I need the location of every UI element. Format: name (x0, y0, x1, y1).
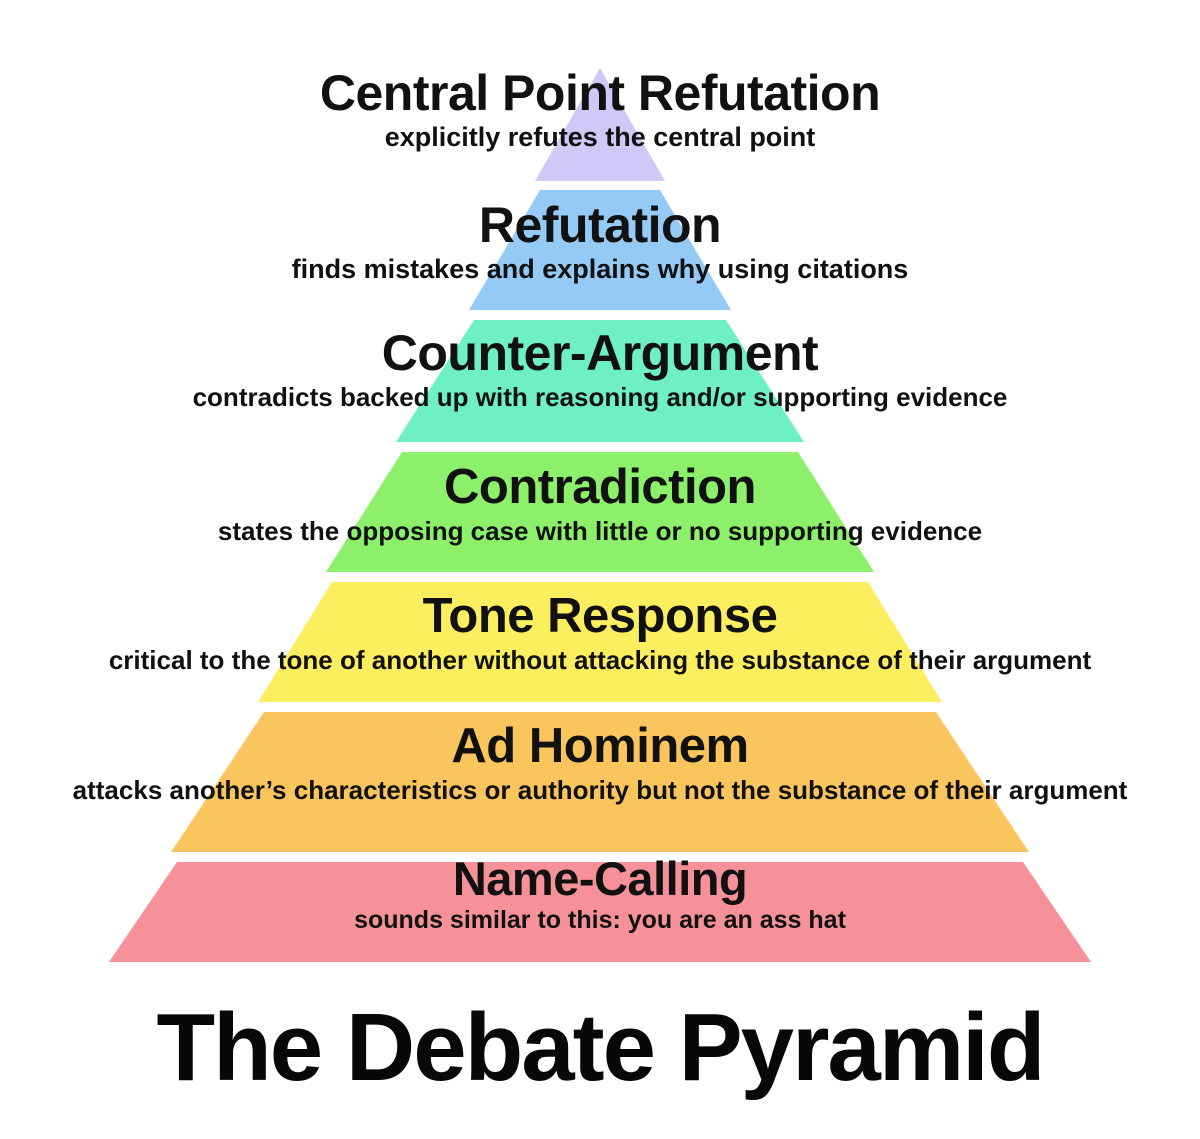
level-description: contradicts backed up with reasoning and… (0, 384, 1200, 410)
debate-pyramid-figure: Central Point Refutation explicitly refu… (0, 0, 1200, 1139)
pyramid-level-tone-response: Tone Response critical to the tone of an… (0, 592, 1200, 673)
level-description: states the opposing case with little or … (0, 518, 1200, 544)
level-title: Name-Calling (0, 855, 1200, 902)
pyramid-level-ad-hominem: Ad Hominem attacks another’s characteris… (0, 722, 1200, 803)
figure-title: The Debate Pyramid (0, 1000, 1200, 1096)
level-description: sounds similar to this: you are an ass h… (0, 908, 1200, 933)
pyramid-graphic (0, 0, 1200, 1139)
level-description: critical to the tone of another without … (0, 647, 1200, 673)
pyramid-level-central-point-refutation: Central Point Refutation explicitly refu… (0, 68, 1200, 151)
level-description: finds mistakes and explains why using ci… (0, 256, 1200, 283)
pyramid-level-name-calling: Name-Calling sounds similar to this: you… (0, 855, 1200, 933)
level-title: Central Point Refutation (0, 68, 1200, 118)
level-title: Contradiction (0, 463, 1200, 512)
level-description: explicitly refutes the central point (0, 124, 1200, 151)
level-title: Ad Hominem (0, 722, 1200, 771)
pyramid-level-counter-argument: Counter-Argument contradicts backed up w… (0, 328, 1200, 410)
level-title: Refutation (0, 200, 1200, 250)
level-description: attacks another’s characteristics or aut… (0, 777, 1200, 803)
level-title: Counter-Argument (0, 328, 1200, 378)
pyramid-level-contradiction: Contradiction states the opposing case w… (0, 463, 1200, 544)
pyramid-level-refutation: Refutation finds mistakes and explains w… (0, 200, 1200, 283)
level-title: Tone Response (0, 592, 1200, 641)
